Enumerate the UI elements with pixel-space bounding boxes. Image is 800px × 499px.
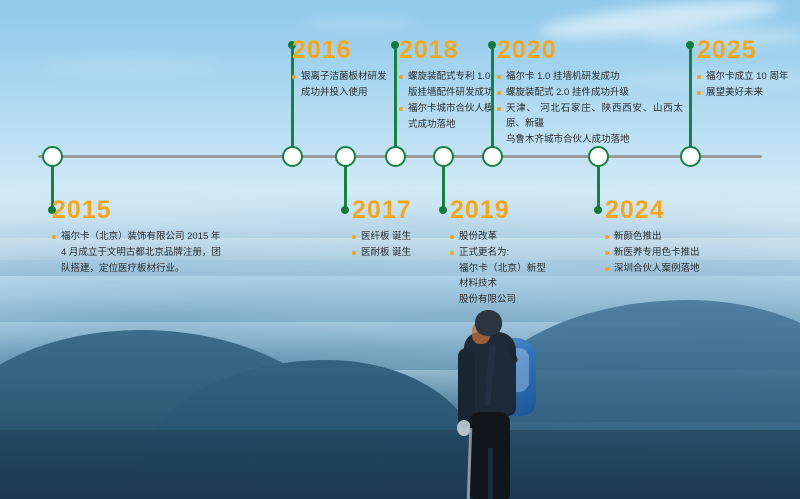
timeline-stem-cap-dot [341,206,349,214]
timeline-node-2020[interactable] [482,146,503,167]
entry-2017: 2017医纤板 诞生医耐板 诞生 [352,198,440,261]
entry-2016: 2016银离子洁菌板材研发成功并投入使用 [292,38,388,101]
timeline-node-ring [42,146,63,167]
milestone-item: 福尔卡城市合伙人模 [399,101,495,116]
entry-2024: 2024新颜色推出新医养专用色卡推出深圳合伙人案例落地 [605,198,725,277]
year-label: 2016 [292,38,388,63]
entry-2019: 2019股份改革正式更名为:福尔卡（北京）新型材料技术股份有限公司 [450,198,546,308]
hiker-leg-gap [488,448,493,499]
milestone-list: 股份改革正式更名为:福尔卡（北京）新型材料技术股份有限公司 [450,229,546,307]
year-label: 2015 [52,198,240,223]
timeline-infographic: 2015福尔卡（北京）装饰有限公司 2015 年4 月成立于文明古都北京品牌注册… [0,0,800,499]
milestone-item: 展望美好未来 [697,85,800,100]
timeline-node-ring [588,146,609,167]
milestone-item: 福尔卡 1.0 挂墙机研发成功 [497,69,683,84]
timeline-node-2015[interactable] [42,146,63,167]
milestone-item-continuation: 股份有限公司 [450,292,546,307]
milestone-item-continuation: 版挂墙配件研发成功 [399,85,495,100]
timeline-stem [394,45,397,155]
entry-2020: 2020福尔卡 1.0 挂墙机研发成功螺旋装配式 2.0 挂件成功升级天津、 河… [497,38,683,148]
year-label: 2019 [450,198,546,223]
milestone-list: 福尔卡（北京）装饰有限公司 2015 年4 月成立于文明古都北京品牌注册，团队搭… [52,229,240,276]
timeline-node-2019[interactable] [433,146,454,167]
entry-2018: 2018螺旋装配式专利 1.0版挂墙配件研发成功福尔卡城市合伙人模式成功落地 [399,38,495,133]
milestone-item-continuation: 式成功落地 [399,117,495,132]
timeline-stem-cap-dot [439,206,447,214]
milestone-list: 医纤板 诞生医耐板 诞生 [352,229,440,260]
milestone-item: 医纤板 诞生 [352,229,440,244]
timeline-stem-cap-dot [686,41,694,49]
milestone-item: 深圳合伙人案例落地 [605,261,725,276]
year-label: 2017 [352,198,440,223]
timeline-stem-cap-dot [488,41,496,49]
timeline-node-2016[interactable] [282,146,303,167]
timeline-node-ring [335,146,356,167]
entry-2015: 2015福尔卡（北京）装饰有限公司 2015 年4 月成立于文明古都北京品牌注册… [52,198,240,277]
mountain-foreground-bottom [0,430,800,499]
milestone-item: 螺旋装配式 2.0 挂件成功升级 [497,85,683,100]
year-label: 2025 [697,38,800,63]
milestone-list: 福尔卡成立 10 周年展望美好未来 [697,69,800,100]
timeline-node-2025[interactable] [680,146,701,167]
milestone-item: 螺旋装配式专利 1.0 [399,69,495,84]
timeline-stem-cap-dot [391,41,399,49]
hiker-figure [448,308,568,499]
milestone-item: 福尔卡成立 10 周年 [697,69,800,84]
timeline-node-ring [282,146,303,167]
milestone-item: 天津、 河北石家庄、陕西西安、山西太原、新疆 [497,101,683,131]
milestone-list: 螺旋装配式专利 1.0版挂墙配件研发成功福尔卡城市合伙人模式成功落地 [399,69,495,132]
milestone-item-continuation: 4 月成立于文明古都北京品牌注册，团 [52,245,240,260]
milestone-item-continuation: 成功并投入使用 [292,85,388,100]
milestone-item: 银离子洁菌板材研发 [292,69,388,84]
timeline-stem [491,45,494,155]
milestone-list: 福尔卡 1.0 挂墙机研发成功螺旋装配式 2.0 挂件成功升级天津、 河北石家庄… [497,69,683,147]
timeline-node-ring [680,146,701,167]
milestone-item: 医耐板 诞生 [352,245,440,260]
timeline-node-2024[interactable] [588,146,609,167]
cloud-wisp [40,60,220,74]
timeline-node-ring [482,146,503,167]
year-label: 2020 [497,38,683,63]
milestone-item: 正式更名为: [450,245,546,260]
milestone-item-continuation: 乌鲁木齐城市合伙人成功落地 [497,132,683,147]
timeline-node-ring [385,146,406,167]
milestone-list: 新颜色推出新医养专用色卡推出深圳合伙人案例落地 [605,229,725,276]
milestone-item: 福尔卡（北京）装饰有限公司 2015 年 [52,229,240,244]
milestone-item-continuation: 队搭建，定位医疗板材行业。 [52,261,240,276]
milestone-item: 股份改革 [450,229,546,244]
milestone-list: 银离子洁菌板材研发成功并投入使用 [292,69,388,100]
milestone-item: 新颜色推出 [605,229,725,244]
timeline-node-2017[interactable] [335,146,356,167]
hiker-head [475,310,502,336]
timeline-node-ring [433,146,454,167]
cloud-wisp [300,18,420,30]
year-label: 2018 [399,38,495,63]
year-label: 2024 [605,198,725,223]
timeline-node-2018[interactable] [385,146,406,167]
timeline-stem [689,45,692,155]
timeline-stem-cap-dot [594,206,602,214]
entry-2025: 2025福尔卡成立 10 周年展望美好未来 [697,38,800,101]
milestone-item-continuation: 福尔卡（北京）新型材料技术 [450,261,546,291]
milestone-item: 新医养专用色卡推出 [605,245,725,260]
